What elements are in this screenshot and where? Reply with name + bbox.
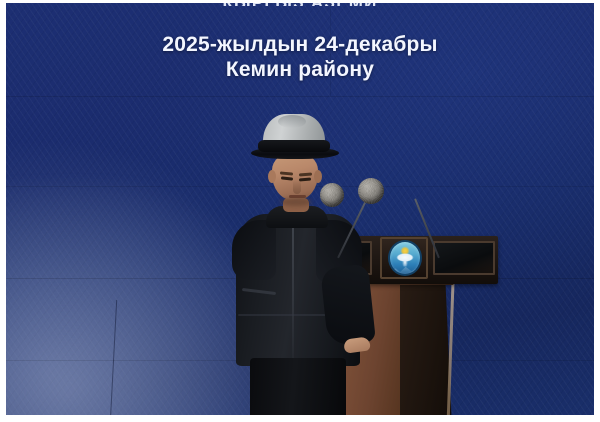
microphone-windscreen-left xyxy=(320,183,344,207)
kalpak-hat-band xyxy=(258,140,330,152)
state-emblem xyxy=(388,240,422,276)
speaker-chin-shadow xyxy=(280,198,312,206)
speaker-trousers xyxy=(250,358,346,422)
speaker-ear-right xyxy=(314,170,322,183)
speaker-ear-left xyxy=(268,170,276,183)
kalpak-hat-crease xyxy=(278,115,306,128)
press-photograph: КЫРГЫЗ АЗЕМИ 2025-жылдын 24-декабры Кеми… xyxy=(0,0,600,422)
jacket-zipper xyxy=(292,218,294,358)
lectern-side-panel xyxy=(396,278,452,422)
speaker-nose xyxy=(293,180,301,194)
speaker-figure xyxy=(228,114,378,422)
lectern-dark-panel-right xyxy=(433,241,495,275)
speaker-shoulder-left xyxy=(232,220,276,280)
microphone-windscreen-right xyxy=(358,178,384,204)
screen-caption-line-1: 2025-жылдын 24-декабры xyxy=(0,33,600,57)
speaker-hand xyxy=(343,336,371,353)
screen-caption-line-2: Кемин району xyxy=(0,58,600,82)
speaker-arm-right xyxy=(320,264,376,347)
state-emblem-falcon xyxy=(393,251,417,266)
screen-kicker-text: КЫРГЫЗ АЗЕМИ xyxy=(0,0,600,6)
state-emblem-mountains xyxy=(390,265,420,274)
led-panel-seam xyxy=(0,96,600,97)
